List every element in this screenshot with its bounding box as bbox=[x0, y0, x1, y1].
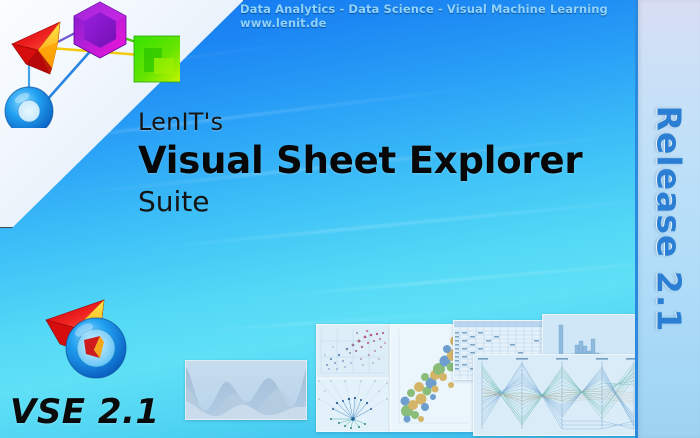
brand-prefix: LenIT's bbox=[138, 108, 658, 136]
headline-block: LenIT's Visual Sheet Explorer Suite bbox=[138, 108, 658, 219]
thumbnail-scatter-chart bbox=[316, 324, 390, 378]
product-title: Visual Sheet Explorer bbox=[138, 138, 658, 184]
splash-screen: Release 2.1 bbox=[0, 0, 700, 438]
chart-thumbnail-collage bbox=[185, 290, 640, 438]
thumbnail-radial-network-chart bbox=[316, 378, 390, 432]
tagline-line-1: Data Analytics - Data Science - Visual M… bbox=[240, 2, 608, 16]
tagline-website: www.lenit.de bbox=[240, 16, 640, 30]
version-label: VSE 2.1 bbox=[10, 392, 160, 432]
thumbnail-density-chart bbox=[185, 360, 307, 420]
tagline: Data Analytics - Data Science - Visual M… bbox=[240, 2, 640, 30]
vse-target-arrow-logo bbox=[42, 292, 146, 388]
product-subtitle: Suite bbox=[138, 185, 658, 219]
thumbnail-parallel-coordinates-chart bbox=[473, 354, 643, 436]
release-sidebar: Release 2.1 bbox=[635, 0, 700, 438]
